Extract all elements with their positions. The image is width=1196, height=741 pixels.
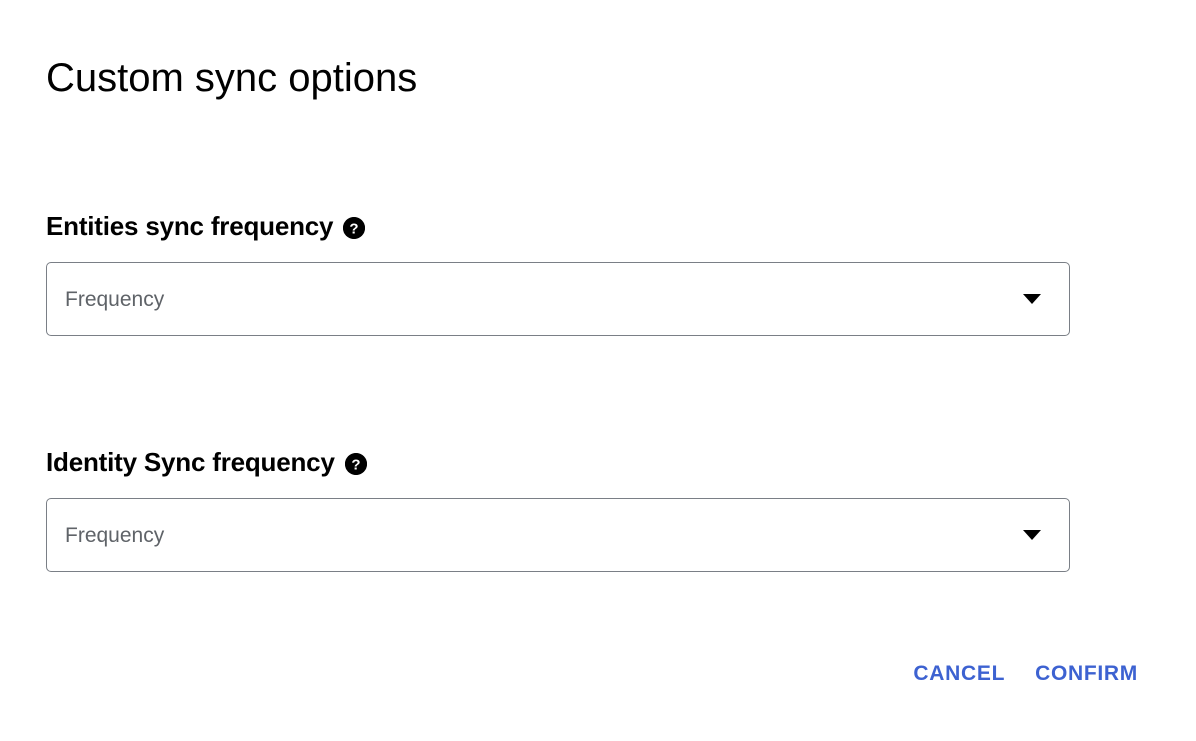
field-label-row: Entities sync frequency ? — [46, 208, 1070, 244]
svg-text:?: ? — [351, 456, 360, 473]
select-placeholder: Frequency — [47, 289, 164, 310]
chevron-down-icon[interactable] — [1023, 294, 1041, 304]
page-title: Custom sync options — [46, 50, 417, 106]
help-circle-icon[interactable]: ? — [343, 217, 365, 239]
chevron-down-icon[interactable] — [1023, 530, 1041, 540]
field-label: Entities sync frequency — [46, 210, 333, 242]
help-circle-icon[interactable]: ? — [345, 453, 367, 475]
select-placeholder: Frequency — [47, 525, 164, 546]
dialog-actions: CANCEL CONFIRM — [903, 656, 1148, 692]
confirm-button[interactable]: CONFIRM — [1025, 656, 1148, 692]
field-label-row: Identity Sync frequency ? — [46, 444, 1070, 480]
custom-sync-options-dialog: Custom sync options Entities sync freque… — [0, 0, 1196, 741]
field-label: Identity Sync frequency — [46, 446, 335, 478]
cancel-button[interactable]: CANCEL — [903, 656, 1015, 692]
field-entities-sync-frequency: Entities sync frequency ? Frequency — [46, 208, 1070, 336]
field-identity-sync-frequency: Identity Sync frequency ? Frequency — [46, 444, 1070, 572]
entities-sync-frequency-select[interactable]: Frequency — [46, 262, 1070, 336]
identity-sync-frequency-select[interactable]: Frequency — [46, 498, 1070, 572]
svg-text:?: ? — [350, 220, 359, 237]
